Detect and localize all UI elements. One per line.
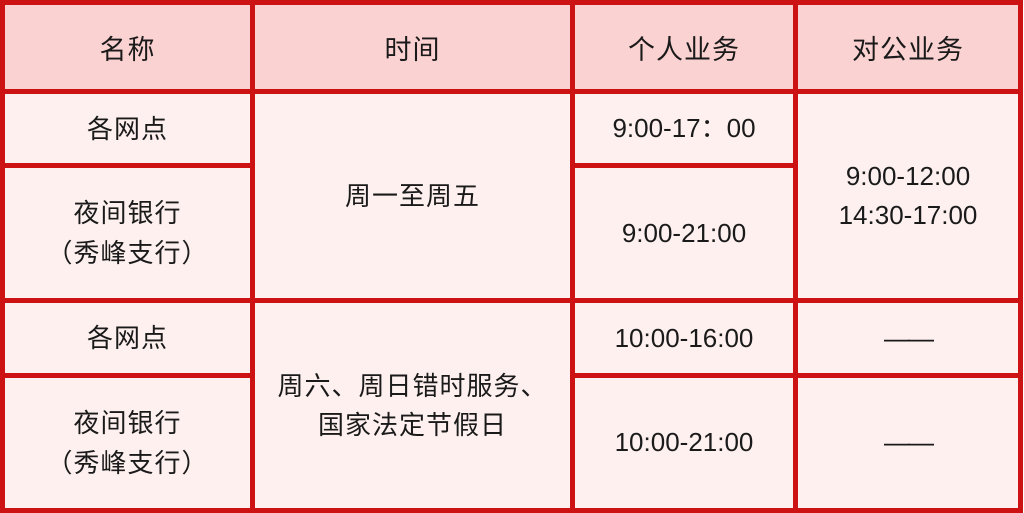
- cell-name-line1: 各网点: [9, 318, 246, 358]
- cell-time-line1: 周一至周五: [259, 177, 566, 216]
- cell-time-line2: 国家法定节假日: [259, 406, 566, 445]
- table-header-row: 名称 时间 个人业务 对公业务: [3, 3, 1021, 92]
- cell-corporate-weekday: 9:00-12:00 14:30-17:00: [796, 92, 1021, 301]
- cell-name-line2: （秀峰支行）: [9, 233, 246, 273]
- column-header-name: 名称: [3, 3, 253, 92]
- column-header-time: 时间: [253, 3, 573, 92]
- business-hours-table: 名称 时间 个人业务 对公业务 各网点 周一至周五 9:00-17：00 9:0…: [0, 0, 1023, 513]
- cell-personal-branches-weekday: 9:00-17：00: [573, 92, 796, 166]
- cell-name-line1: 夜间银行: [9, 403, 246, 443]
- column-header-corporate: 对公业务: [796, 3, 1021, 92]
- cell-name-night-bank-weekday: 夜间银行 （秀峰支行）: [3, 166, 253, 301]
- cell-name-line1: 各网点: [9, 109, 246, 149]
- cell-name-branches-weekday: 各网点: [3, 92, 253, 166]
- cell-name-line1: 夜间银行: [9, 193, 246, 233]
- column-header-personal: 个人业务: [573, 3, 796, 92]
- cell-corporate-line2: 14:30-17:00: [802, 196, 1014, 235]
- table-row: 各网点 周一至周五 9:00-17：00 9:00-12:00 14:30-17…: [3, 92, 1021, 166]
- cell-time-weekday: 周一至周五: [253, 92, 573, 301]
- cell-corporate-branches-weekend: ——: [796, 301, 1021, 375]
- cell-corporate-night-bank-weekend: ——: [796, 375, 1021, 510]
- cell-time-line1: 周六、周日错时服务、: [259, 367, 566, 406]
- cell-time-weekend: 周六、周日错时服务、 国家法定节假日: [253, 301, 573, 511]
- table-row: 各网点 周六、周日错时服务、 国家法定节假日 10:00-16:00 ——: [3, 301, 1021, 375]
- cell-personal-night-bank-weekday: 9:00-21:00: [573, 166, 796, 301]
- cell-name-branches-weekend: 各网点: [3, 301, 253, 375]
- cell-corporate-line1: 9:00-12:00: [802, 157, 1014, 196]
- cell-personal-night-bank-weekend: 10:00-21:00: [573, 375, 796, 510]
- cell-name-line2: （秀峰支行）: [9, 443, 246, 483]
- table-body: 各网点 周一至周五 9:00-17：00 9:00-12:00 14:30-17…: [3, 92, 1021, 511]
- schedule-table-container: 名称 时间 个人业务 对公业务 各网点 周一至周五 9:00-17：00 9:0…: [0, 0, 1024, 513]
- cell-personal-branches-weekend: 10:00-16:00: [573, 301, 796, 375]
- cell-name-night-bank-weekend: 夜间银行 （秀峰支行）: [3, 375, 253, 510]
- table-header: 名称 时间 个人业务 对公业务: [3, 3, 1021, 92]
